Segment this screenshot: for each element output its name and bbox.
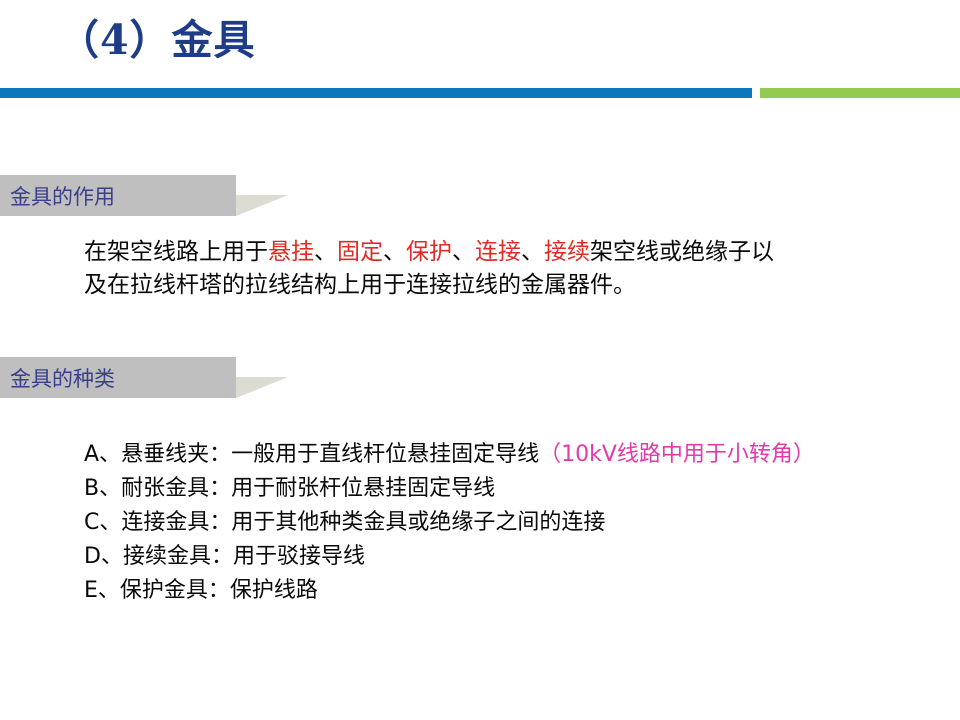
list-item-text: 用于驳接导线 (233, 544, 365, 569)
banner-flag-icon (236, 357, 288, 398)
paragraph-highlight-2: 固定 (337, 239, 383, 265)
paragraph-text-lead: 在架空线路上用于 (84, 239, 268, 265)
paragraph-separator-3: 、 (452, 239, 475, 265)
types-list: A、悬垂线夹：一般用于直线杆位悬挂固定导线（10kV线路中用于小转角） B、耐张… (84, 438, 954, 608)
list-item-marker: C、 (84, 510, 121, 535)
list-item: C、连接金具：用于其他种类金具或绝缘子之间的连接 (84, 506, 954, 540)
section-banner-types: 金具的种类 (0, 357, 236, 398)
list-item-text: 用于耐张杆位悬挂固定导线 (231, 476, 495, 501)
list-item-term: 耐张金具： (121, 476, 231, 501)
paragraph-highlight-5: 接续 (544, 239, 590, 265)
divider-blue-segment (0, 88, 752, 98)
banner-flag-icon (236, 175, 288, 216)
title-divider (0, 88, 960, 98)
list-item-marker: B、 (84, 476, 121, 501)
paragraph-highlight-4: 连接 (475, 239, 521, 265)
list-item: B、耐张金具：用于耐张杆位悬挂固定导线 (84, 472, 954, 506)
list-item-term: 保护金具： (120, 578, 230, 603)
list-item-note: （10kV线路中用于小转角） (539, 442, 815, 467)
list-item-text: 保护线路 (230, 578, 318, 603)
divider-green-segment (760, 88, 960, 98)
list-item: D、接续金具：用于驳接导线 (84, 540, 954, 574)
list-item: E、保护金具：保护线路 (84, 574, 954, 608)
list-item: A、悬垂线夹：一般用于直线杆位悬挂固定导线（10kV线路中用于小转角） (84, 438, 954, 472)
paragraph-highlight-1: 悬挂 (268, 239, 314, 265)
section-banner-function: 金具的作用 (0, 175, 236, 216)
section-banner-function-label: 金具的作用 (10, 181, 115, 211)
list-item-marker: E、 (84, 578, 120, 603)
list-item-marker: A、 (84, 442, 121, 467)
list-item-term: 悬垂线夹： (121, 442, 231, 467)
list-item-term: 接续金具： (123, 544, 233, 569)
list-item-term: 连接金具： (121, 510, 231, 535)
function-paragraph: 在架空线路上用于悬挂、固定、保护、连接、接续架空线或绝缘子以及在拉线杆塔的拉线结… (84, 236, 784, 302)
page-title: （4）金具 (58, 14, 256, 67)
paragraph-highlight-3: 保护 (406, 239, 452, 265)
paragraph-separator-4: 、 (521, 239, 544, 265)
slide-canvas: （4）金具 金具的作用 在架空线路上用于悬挂、固定、保护、连接、接续架空线或绝缘… (0, 0, 960, 720)
section-banner-types-label: 金具的种类 (10, 363, 115, 393)
list-item-marker: D、 (84, 544, 123, 569)
list-item-text: 用于其他种类金具或绝缘子之间的连接 (231, 510, 605, 535)
paragraph-separator-2: 、 (383, 239, 406, 265)
paragraph-separator-1: 、 (314, 239, 337, 265)
list-item-text: 一般用于直线杆位悬挂固定导线 (231, 442, 539, 467)
